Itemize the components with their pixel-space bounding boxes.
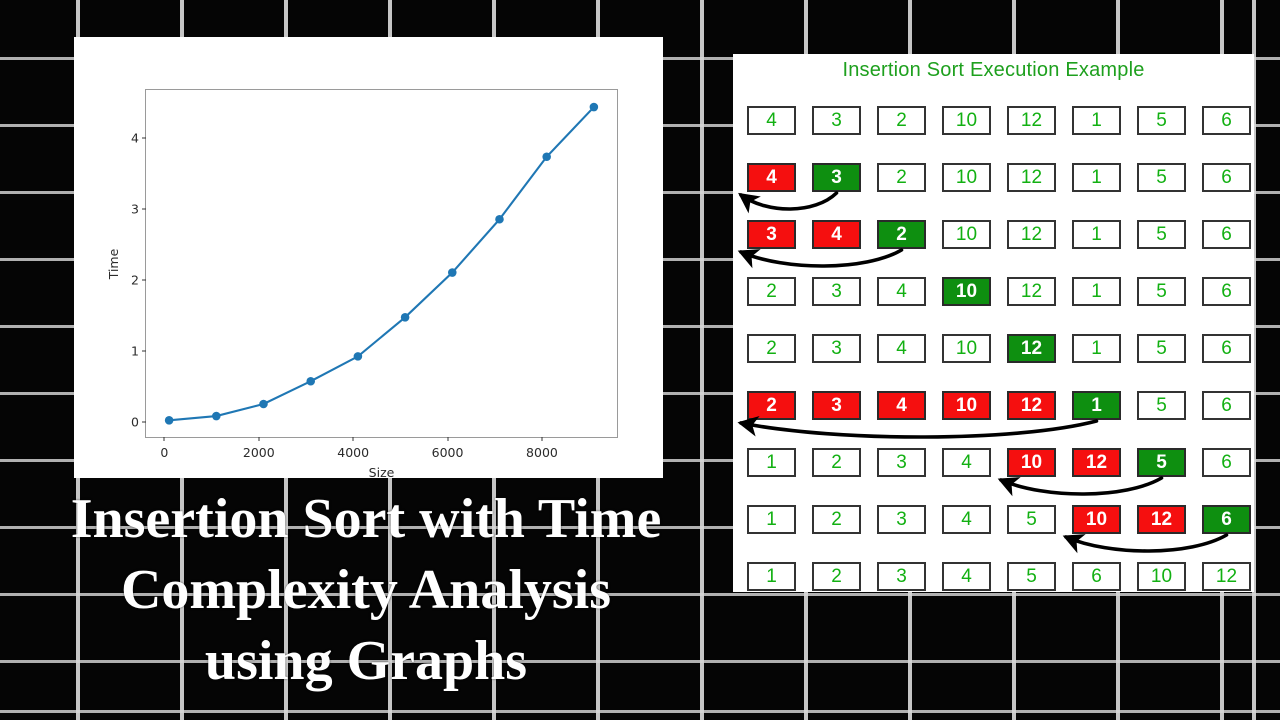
sort-row: 2341012156 bbox=[743, 334, 1254, 363]
array-cell: 12 bbox=[1007, 220, 1056, 249]
insertion-sort-example-panel: Insertion Sort Execution Example 4321012… bbox=[733, 54, 1254, 592]
x-axis-tick-label: 2000 bbox=[243, 445, 275, 460]
x-axis-tick-label: 0 bbox=[160, 445, 168, 460]
array-cell: 5 bbox=[1137, 448, 1186, 477]
array-cell: 3 bbox=[812, 106, 861, 135]
array-cell: 10 bbox=[942, 391, 991, 420]
x-axis-tick-mark bbox=[164, 437, 165, 441]
array-cell: 10 bbox=[942, 163, 991, 192]
array-cell: 3 bbox=[812, 334, 861, 363]
array-cell: 2 bbox=[877, 106, 926, 135]
x-axis-tick-mark bbox=[541, 437, 542, 441]
array-cell: 5 bbox=[1137, 334, 1186, 363]
array-cell: 4 bbox=[747, 163, 796, 192]
array-cell: 6 bbox=[1202, 505, 1251, 534]
array-cell: 12 bbox=[1007, 163, 1056, 192]
array-cell: 12 bbox=[1007, 391, 1056, 420]
array-cell: 6 bbox=[1202, 448, 1251, 477]
array-cell: 1 bbox=[747, 505, 796, 534]
array-cell: 10 bbox=[1137, 562, 1186, 591]
data-point-marker bbox=[401, 313, 410, 322]
y-axis-tick-label: 1 bbox=[131, 343, 139, 358]
page-title-line-2: Complexity Analysis bbox=[8, 555, 724, 626]
y-axis-tick-label: 4 bbox=[131, 130, 139, 145]
array-cell: 6 bbox=[1202, 106, 1251, 135]
sort-row: 1234510126 bbox=[743, 505, 1254, 534]
plot-area: Time Size 0123402000400060008000 bbox=[145, 89, 618, 438]
array-cell: 1 bbox=[1072, 277, 1121, 306]
y-axis-tick-label: 3 bbox=[131, 201, 139, 216]
sort-row: 3421012156 bbox=[743, 220, 1254, 249]
array-cell: 12 bbox=[1007, 334, 1056, 363]
array-cell: 2 bbox=[747, 391, 796, 420]
array-cell: 4 bbox=[877, 334, 926, 363]
page-title-line-1: Insertion Sort with Time bbox=[8, 484, 724, 555]
array-cell: 4 bbox=[747, 106, 796, 135]
sort-row: 2341012156 bbox=[743, 277, 1254, 306]
array-cell: 6 bbox=[1202, 277, 1251, 306]
data-point-marker bbox=[306, 377, 315, 386]
array-cell: 12 bbox=[1007, 277, 1056, 306]
y-axis-tick-label: 2 bbox=[131, 272, 139, 287]
array-cell: 2 bbox=[812, 505, 861, 534]
sort-example-title: Insertion Sort Execution Example bbox=[733, 59, 1254, 82]
array-cell: 4 bbox=[877, 277, 926, 306]
array-cell: 5 bbox=[1137, 106, 1186, 135]
data-point-marker bbox=[259, 400, 268, 409]
array-cell: 1 bbox=[1072, 391, 1121, 420]
array-cell: 2 bbox=[812, 448, 861, 477]
line-series-svg bbox=[146, 90, 617, 437]
array-cell: 5 bbox=[1137, 391, 1186, 420]
x-axis-tick-mark bbox=[447, 437, 448, 441]
y-axis-tick-label: 0 bbox=[131, 414, 139, 429]
array-cell: 3 bbox=[812, 163, 861, 192]
y-axis-tick-mark bbox=[142, 137, 146, 138]
sort-row: 1234561012 bbox=[743, 562, 1254, 591]
array-cell: 1 bbox=[1072, 220, 1121, 249]
sort-row: 4321012156 bbox=[743, 163, 1254, 192]
array-cell: 3 bbox=[877, 448, 926, 477]
array-cell: 3 bbox=[877, 505, 926, 534]
array-cell: 4 bbox=[942, 562, 991, 591]
array-cell: 2 bbox=[747, 277, 796, 306]
array-cell: 6 bbox=[1202, 391, 1251, 420]
array-cell: 10 bbox=[1007, 448, 1056, 477]
array-cell: 10 bbox=[942, 106, 991, 135]
array-cell: 5 bbox=[1137, 163, 1186, 192]
array-cell: 1 bbox=[747, 562, 796, 591]
array-cell: 1 bbox=[747, 448, 796, 477]
sort-rows-container: 4321012156432101215634210121562341012156… bbox=[743, 106, 1254, 592]
array-cell: 5 bbox=[1137, 277, 1186, 306]
array-cell: 10 bbox=[942, 277, 991, 306]
array-cell: 4 bbox=[877, 391, 926, 420]
page-title-line-3: using Graphs bbox=[8, 626, 724, 697]
data-point-marker bbox=[495, 215, 504, 224]
array-cell: 10 bbox=[942, 220, 991, 249]
array-cell: 2 bbox=[747, 334, 796, 363]
sort-row: 2341012156 bbox=[743, 391, 1254, 420]
y-axis-label: Time bbox=[106, 248, 121, 279]
time-complexity-chart-panel: Time Size 0123402000400060008000 bbox=[74, 37, 663, 478]
array-cell: 3 bbox=[747, 220, 796, 249]
array-cell: 5 bbox=[1137, 220, 1186, 249]
y-axis-tick-mark bbox=[142, 350, 146, 351]
data-point-marker bbox=[354, 352, 363, 361]
array-cell: 3 bbox=[812, 391, 861, 420]
array-cell: 3 bbox=[877, 562, 926, 591]
y-axis-tick-mark bbox=[142, 279, 146, 280]
array-cell: 6 bbox=[1202, 220, 1251, 249]
array-cell: 5 bbox=[1007, 505, 1056, 534]
data-point-marker bbox=[542, 152, 551, 161]
y-axis-tick-mark bbox=[142, 208, 146, 209]
data-point-marker bbox=[212, 412, 221, 421]
array-cell: 2 bbox=[812, 562, 861, 591]
array-cell: 1 bbox=[1072, 163, 1121, 192]
array-cell: 3 bbox=[812, 277, 861, 306]
data-point-marker bbox=[165, 416, 174, 425]
data-point-marker bbox=[448, 268, 457, 277]
y-axis-tick-mark bbox=[142, 421, 146, 422]
array-cell: 6 bbox=[1072, 562, 1121, 591]
sort-row: 1234101256 bbox=[743, 448, 1254, 477]
array-cell: 4 bbox=[942, 505, 991, 534]
array-cell: 6 bbox=[1202, 334, 1251, 363]
array-cell: 1 bbox=[1072, 106, 1121, 135]
data-point-marker bbox=[590, 103, 599, 112]
x-axis-label: Size bbox=[146, 465, 617, 480]
x-axis-tick-label: 8000 bbox=[526, 445, 558, 460]
page-title: Insertion Sort with Time Complexity Anal… bbox=[8, 484, 724, 697]
array-cell: 1 bbox=[1072, 334, 1121, 363]
x-axis-tick-label: 6000 bbox=[432, 445, 464, 460]
x-axis-tick-label: 4000 bbox=[337, 445, 369, 460]
array-cell: 6 bbox=[1202, 163, 1251, 192]
x-axis-tick-mark bbox=[353, 437, 354, 441]
x-axis-tick-mark bbox=[258, 437, 259, 441]
array-cell: 10 bbox=[1072, 505, 1121, 534]
array-cell: 10 bbox=[942, 334, 991, 363]
array-cell: 12 bbox=[1137, 505, 1186, 534]
array-cell: 5 bbox=[1007, 562, 1056, 591]
array-cell: 2 bbox=[877, 163, 926, 192]
array-cell: 4 bbox=[812, 220, 861, 249]
series-line bbox=[169, 107, 594, 420]
video-thumbnail-canvas: Time Size 0123402000400060008000 Inserti… bbox=[0, 0, 1280, 720]
array-cell: 12 bbox=[1007, 106, 1056, 135]
array-cell: 2 bbox=[877, 220, 926, 249]
array-cell: 12 bbox=[1202, 562, 1251, 591]
array-cell: 12 bbox=[1072, 448, 1121, 477]
array-cell: 4 bbox=[942, 448, 991, 477]
sort-row: 4321012156 bbox=[743, 106, 1254, 135]
